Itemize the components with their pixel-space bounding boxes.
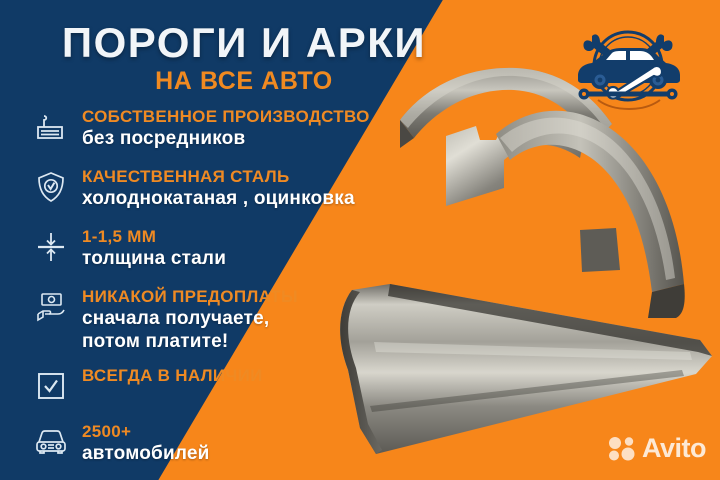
feature-title: ВСЕГДА В НАЛИЧИИ [82, 365, 263, 386]
factory-icon [28, 104, 74, 150]
feature-subtitle: сначала получаете, [82, 307, 298, 330]
advertisement-banner: ПОРОГИ И АРКИ НА ВСЕ АВТО СОБСТВЕННОЕ ПР… [0, 0, 720, 480]
feature-subtitle: холоднокатаная , оцинковка [82, 187, 355, 210]
avito-logo-icon [607, 436, 637, 462]
feature-item-thickness: 1-1,5 ММ толщина стали [28, 224, 428, 270]
car-front-icon [28, 419, 74, 465]
feature-item-in-stock: ВСЕГДА В НАЛИЧИИ [28, 363, 428, 409]
feature-subtitle: автомобилей [82, 442, 210, 465]
retro-car-wrench-logo [548, 18, 708, 118]
feature-subtitle: толщина стали [82, 247, 226, 270]
feature-title: СОБСТВЕННОЕ ПРОИЗВОДСТВО [82, 106, 370, 127]
feature-item-no-prepayment: НИКАКОЙ ПРЕДОПЛАТЫ сначала получаете, по… [28, 284, 428, 353]
page-subtitle: НА ВСЕ АВТО [34, 66, 454, 96]
avito-wordmark: Avito [642, 435, 706, 462]
feature-subtitle: без посредников [82, 127, 370, 150]
avito-watermark: Avito [607, 435, 706, 462]
feature-title: 2500+ [82, 421, 210, 442]
feature-item-production: СОБСТВЕННОЕ ПРОИЗВОДСТВО без посредников [28, 104, 428, 150]
feature-item-car-count: 2500+ автомобилей [28, 419, 428, 465]
checkbox-checked-icon [28, 363, 74, 409]
shield-check-icon [28, 164, 74, 210]
feature-list: СОБСТВЕННОЕ ПРОИЗВОДСТВО без посредников… [28, 104, 428, 477]
page-title: ПОРОГИ И АРКИ [34, 18, 454, 68]
feature-title: НИКАКОЙ ПРЕДОПЛАТЫ [82, 286, 298, 307]
feature-subtitle-line2: потом платите! [82, 330, 298, 353]
feature-title: 1-1,5 ММ [82, 226, 226, 247]
thickness-arrows-icon [28, 224, 74, 270]
money-hand-icon [28, 284, 74, 330]
feature-title: КАЧЕСТВЕННАЯ СТАЛЬ [82, 166, 355, 187]
feature-item-steel-quality: КАЧЕСТВЕННАЯ СТАЛЬ холоднокатаная , оцин… [28, 164, 428, 210]
